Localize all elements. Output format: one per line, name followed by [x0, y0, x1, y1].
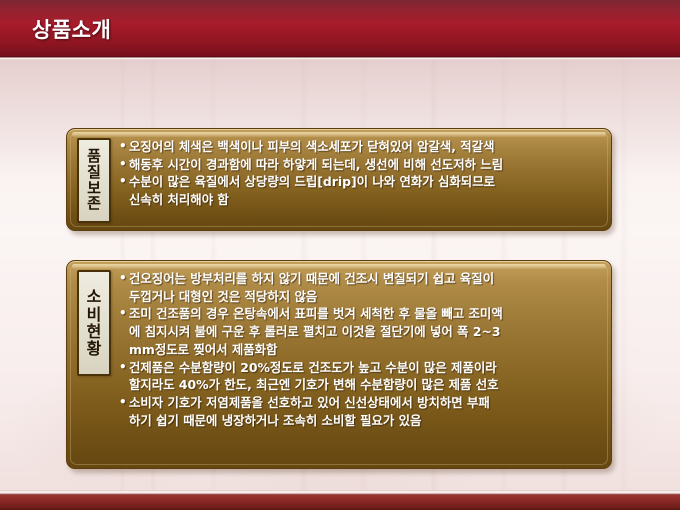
bullet-text: 조미 건조품의 경우 온탕속에서 표피를 벗겨 세척한 후 물올 빼고 조미액 …	[129, 305, 603, 358]
tag-char: 황	[87, 340, 102, 357]
bullet-item: • 오징어의 체색은 백색이나 피부의 색소세포가 닫혀있어 암갈색, 적갈색	[119, 138, 603, 156]
bullet-marker-icon: •	[119, 138, 129, 155]
tag-char: 현	[87, 323, 102, 340]
bullet-item: • 소비자 기호가 저염제품올 선호하고 있어 신선상태에서 방치하면 부패 하…	[119, 394, 603, 429]
bullet-text: 오징어의 체색은 백색이나 피부의 색소세포가 닫혀있어 암갈색, 적갈색	[129, 138, 603, 156]
bullet-marker-icon: •	[119, 270, 129, 287]
bullet-item: • 조미 건조품의 경우 온탕속에서 표피를 벗겨 세척한 후 물올 빼고 조미…	[119, 305, 603, 358]
bullet-item: • 해동후 시간이 경과함에 따라 하얗게 되는데, 생선에 비해 선도저하 느…	[119, 156, 603, 174]
panel-tag-quality: 품 질 보 존	[77, 138, 111, 223]
panel-tag-consumption: 소 비 현 황	[77, 270, 111, 376]
panel-bullet-list-consumption: • 건오징어는 방부처리를 하지 않기 때문에 건조시 변질되기 쉽고 육질이 …	[119, 270, 603, 430]
panel-top-highlight	[72, 132, 606, 137]
bullet-marker-icon: •	[119, 156, 129, 173]
slide-footer-bar	[0, 495, 680, 510]
bullet-text: 해동후 시간이 경과함에 따라 하얗게 되는데, 생선에 비해 선도저하 느림	[129, 156, 603, 174]
tag-char: 존	[87, 196, 101, 212]
bullet-text: 건제품은 수분함량이 20%정도로 건조도가 높고 수분이 많은 제품이라 할지…	[129, 359, 603, 394]
bullet-text: 수분이 많은 육질에서 상당량의 드립[drip]이 나와 연화가 심화되므로 …	[129, 173, 603, 208]
bullet-item: • 건제품은 수분함량이 20%정도로 건조도가 높고 수분이 많은 제품이라 …	[119, 359, 603, 394]
bullet-marker-icon: •	[119, 359, 129, 376]
panel-top-highlight	[72, 264, 606, 269]
content-panel-consumption: 소 비 현 황 • 건오징어는 방부처리를 하지 않기 때문에 건조시 변질되기…	[66, 260, 612, 469]
tag-char: 비	[87, 306, 102, 323]
content-panel-quality: 품 질 보 존 • 오징어의 체색은 백색이나 피부의 색소세포가 닫혀있어 암…	[66, 128, 612, 231]
bullet-marker-icon: •	[119, 173, 129, 190]
presentation-slide: 상품소개 품 질 보 존 • 오징어의 체색은 백색이나 피부의 색소세포가 닫…	[0, 0, 680, 510]
bullet-marker-icon: •	[119, 394, 129, 411]
page-title: 상품소개	[32, 14, 111, 44]
bullet-marker-icon: •	[119, 305, 129, 322]
bullet-text: 건오징어는 방부처리를 하지 않기 때문에 건조시 변질되기 쉽고 육질이 두껍…	[129, 270, 603, 305]
header-divider-line	[0, 56, 680, 60]
tag-char: 소	[87, 288, 102, 305]
bullet-item: • 수분이 많은 육질에서 상당량의 드립[drip]이 나와 연화가 심화되므…	[119, 173, 603, 208]
bullet-item: • 건오징어는 방부처리를 하지 않기 때문에 건조시 변질되기 쉽고 육질이 …	[119, 270, 603, 305]
bullet-text: 소비자 기호가 저염제품올 선호하고 있어 신선상태에서 방치하면 부패 하기 …	[129, 394, 603, 429]
panel-bullet-list-quality: • 오징어의 체색은 백색이나 피부의 색소세포가 닫혀있어 암갈색, 적갈색 …	[119, 138, 603, 209]
